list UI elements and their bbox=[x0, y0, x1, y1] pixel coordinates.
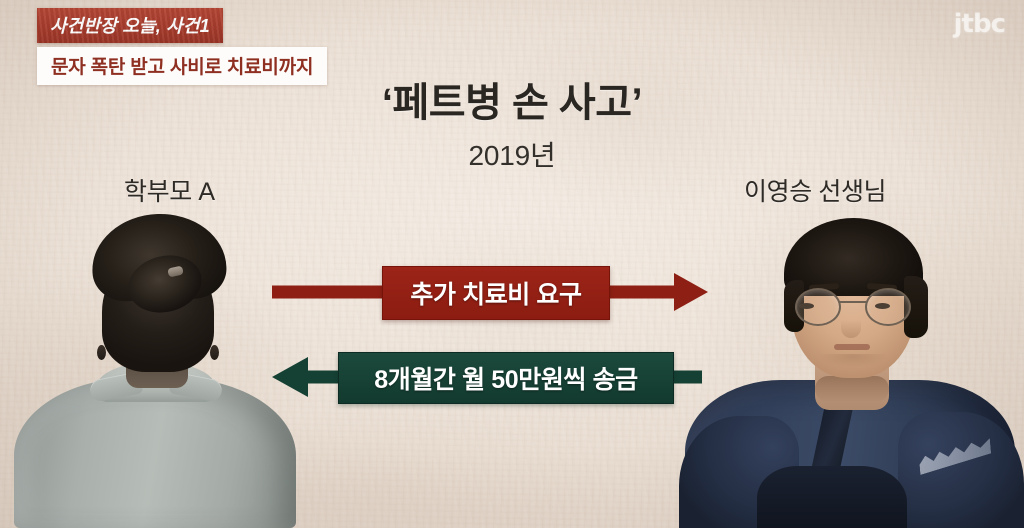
person-figure-teacher bbox=[679, 208, 1024, 528]
teacher-mouth bbox=[834, 344, 870, 350]
person-label-teacher: 이영승 선생님 bbox=[744, 172, 886, 208]
page-title: ‘페트병 손 사고’ bbox=[0, 70, 1024, 128]
glasses-lens-right bbox=[865, 288, 911, 326]
program-label: 사건반장 오늘, 사건1 bbox=[37, 8, 223, 43]
teacher-neck-shadow bbox=[815, 376, 889, 402]
news-graphic-stage: jtbc 사건반장 오늘, 사건1 문자 폭탄 받고 사비로 치료비까지 ‘페트… bbox=[0, 0, 1024, 528]
glasses-lens-left bbox=[795, 288, 841, 326]
parent-earring-right bbox=[210, 345, 219, 360]
teacher-chin-shadow bbox=[813, 354, 893, 376]
flow-arrow-demand: 추가 치료비 요구 bbox=[268, 266, 708, 318]
arrow-head-left-icon bbox=[272, 357, 308, 397]
parent-earring-left bbox=[97, 345, 106, 360]
program-label-row: 사건반장 오늘, 사건1 bbox=[37, 8, 327, 48]
jtbc-logo-watermark: jtbc bbox=[954, 9, 1005, 39]
flow-label-demand: 추가 치료비 요구 bbox=[382, 266, 610, 320]
flow-arrow-payment: 8개월간 월 50만원씩 송금 bbox=[272, 352, 704, 402]
teacher-nose bbox=[841, 312, 861, 338]
teacher-hair bbox=[784, 218, 923, 296]
teacher-folded-arms bbox=[757, 466, 907, 528]
person-label-parent: 학부모 A bbox=[124, 172, 215, 208]
flow-label-payment: 8개월간 월 50만원씩 송금 bbox=[338, 352, 674, 404]
arrow-head-right-icon bbox=[674, 273, 708, 311]
glasses-bridge bbox=[839, 301, 867, 303]
headline-year: 2019년 bbox=[0, 134, 1024, 174]
